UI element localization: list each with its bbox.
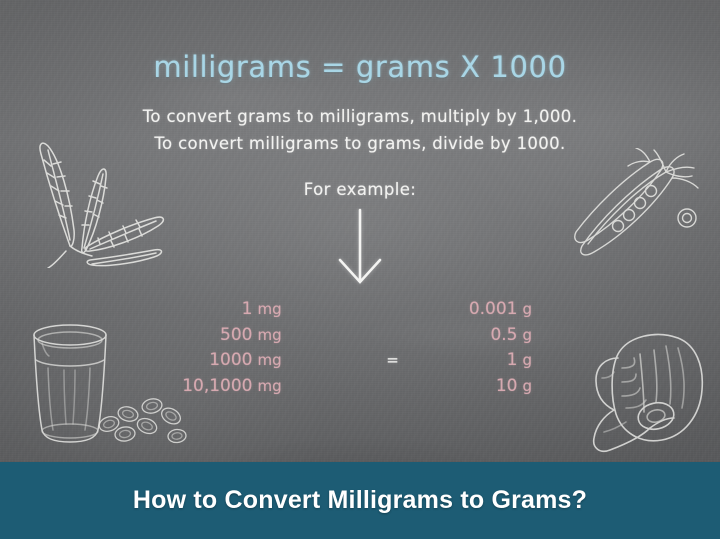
gram-value: 0.5 [413, 323, 523, 349]
unit-g: g [523, 297, 613, 323]
banner-title: How to Convert Milligrams to Grams? [133, 486, 587, 515]
unit-g: g [523, 323, 613, 349]
table-row: 1000 [108, 348, 258, 374]
arrow-down-icon [330, 208, 390, 288]
table-row: 500 [108, 323, 258, 349]
page-title: milligrams = grams X 1000 [0, 50, 720, 84]
table-row: 1 [108, 297, 258, 323]
instruction-line-2: To convert milligrams to grams, divide b… [0, 130, 720, 157]
unit-mg: mg [258, 348, 373, 374]
instruction-block: To convert grams to milligrams, multiply… [0, 103, 720, 157]
gram-value: 0.001 [413, 297, 523, 323]
unit-g: g [523, 348, 613, 374]
table-row: 10,1000 [108, 374, 258, 400]
pea-pod-drawing [566, 148, 716, 260]
gram-value: 1 [413, 348, 523, 374]
example-label: For example: [0, 180, 720, 199]
chalkboard-infographic: milligrams = grams X 1000 To convert gra… [0, 0, 720, 539]
bottom-banner: How to Convert Milligrams to Grams? [0, 462, 720, 539]
conversion-table: 1 mg 0.001 g 500 mg 0.5 g 1000 mg = 1 g … [0, 297, 720, 399]
equals-symbol: = [373, 348, 413, 374]
unit-mg: mg [258, 297, 373, 323]
instruction-line-1: To convert grams to milligrams, multiply… [0, 103, 720, 130]
unit-mg: mg [258, 323, 373, 349]
unit-g: g [523, 374, 613, 400]
unit-mg: mg [258, 374, 373, 400]
gram-value: 10 [413, 374, 523, 400]
